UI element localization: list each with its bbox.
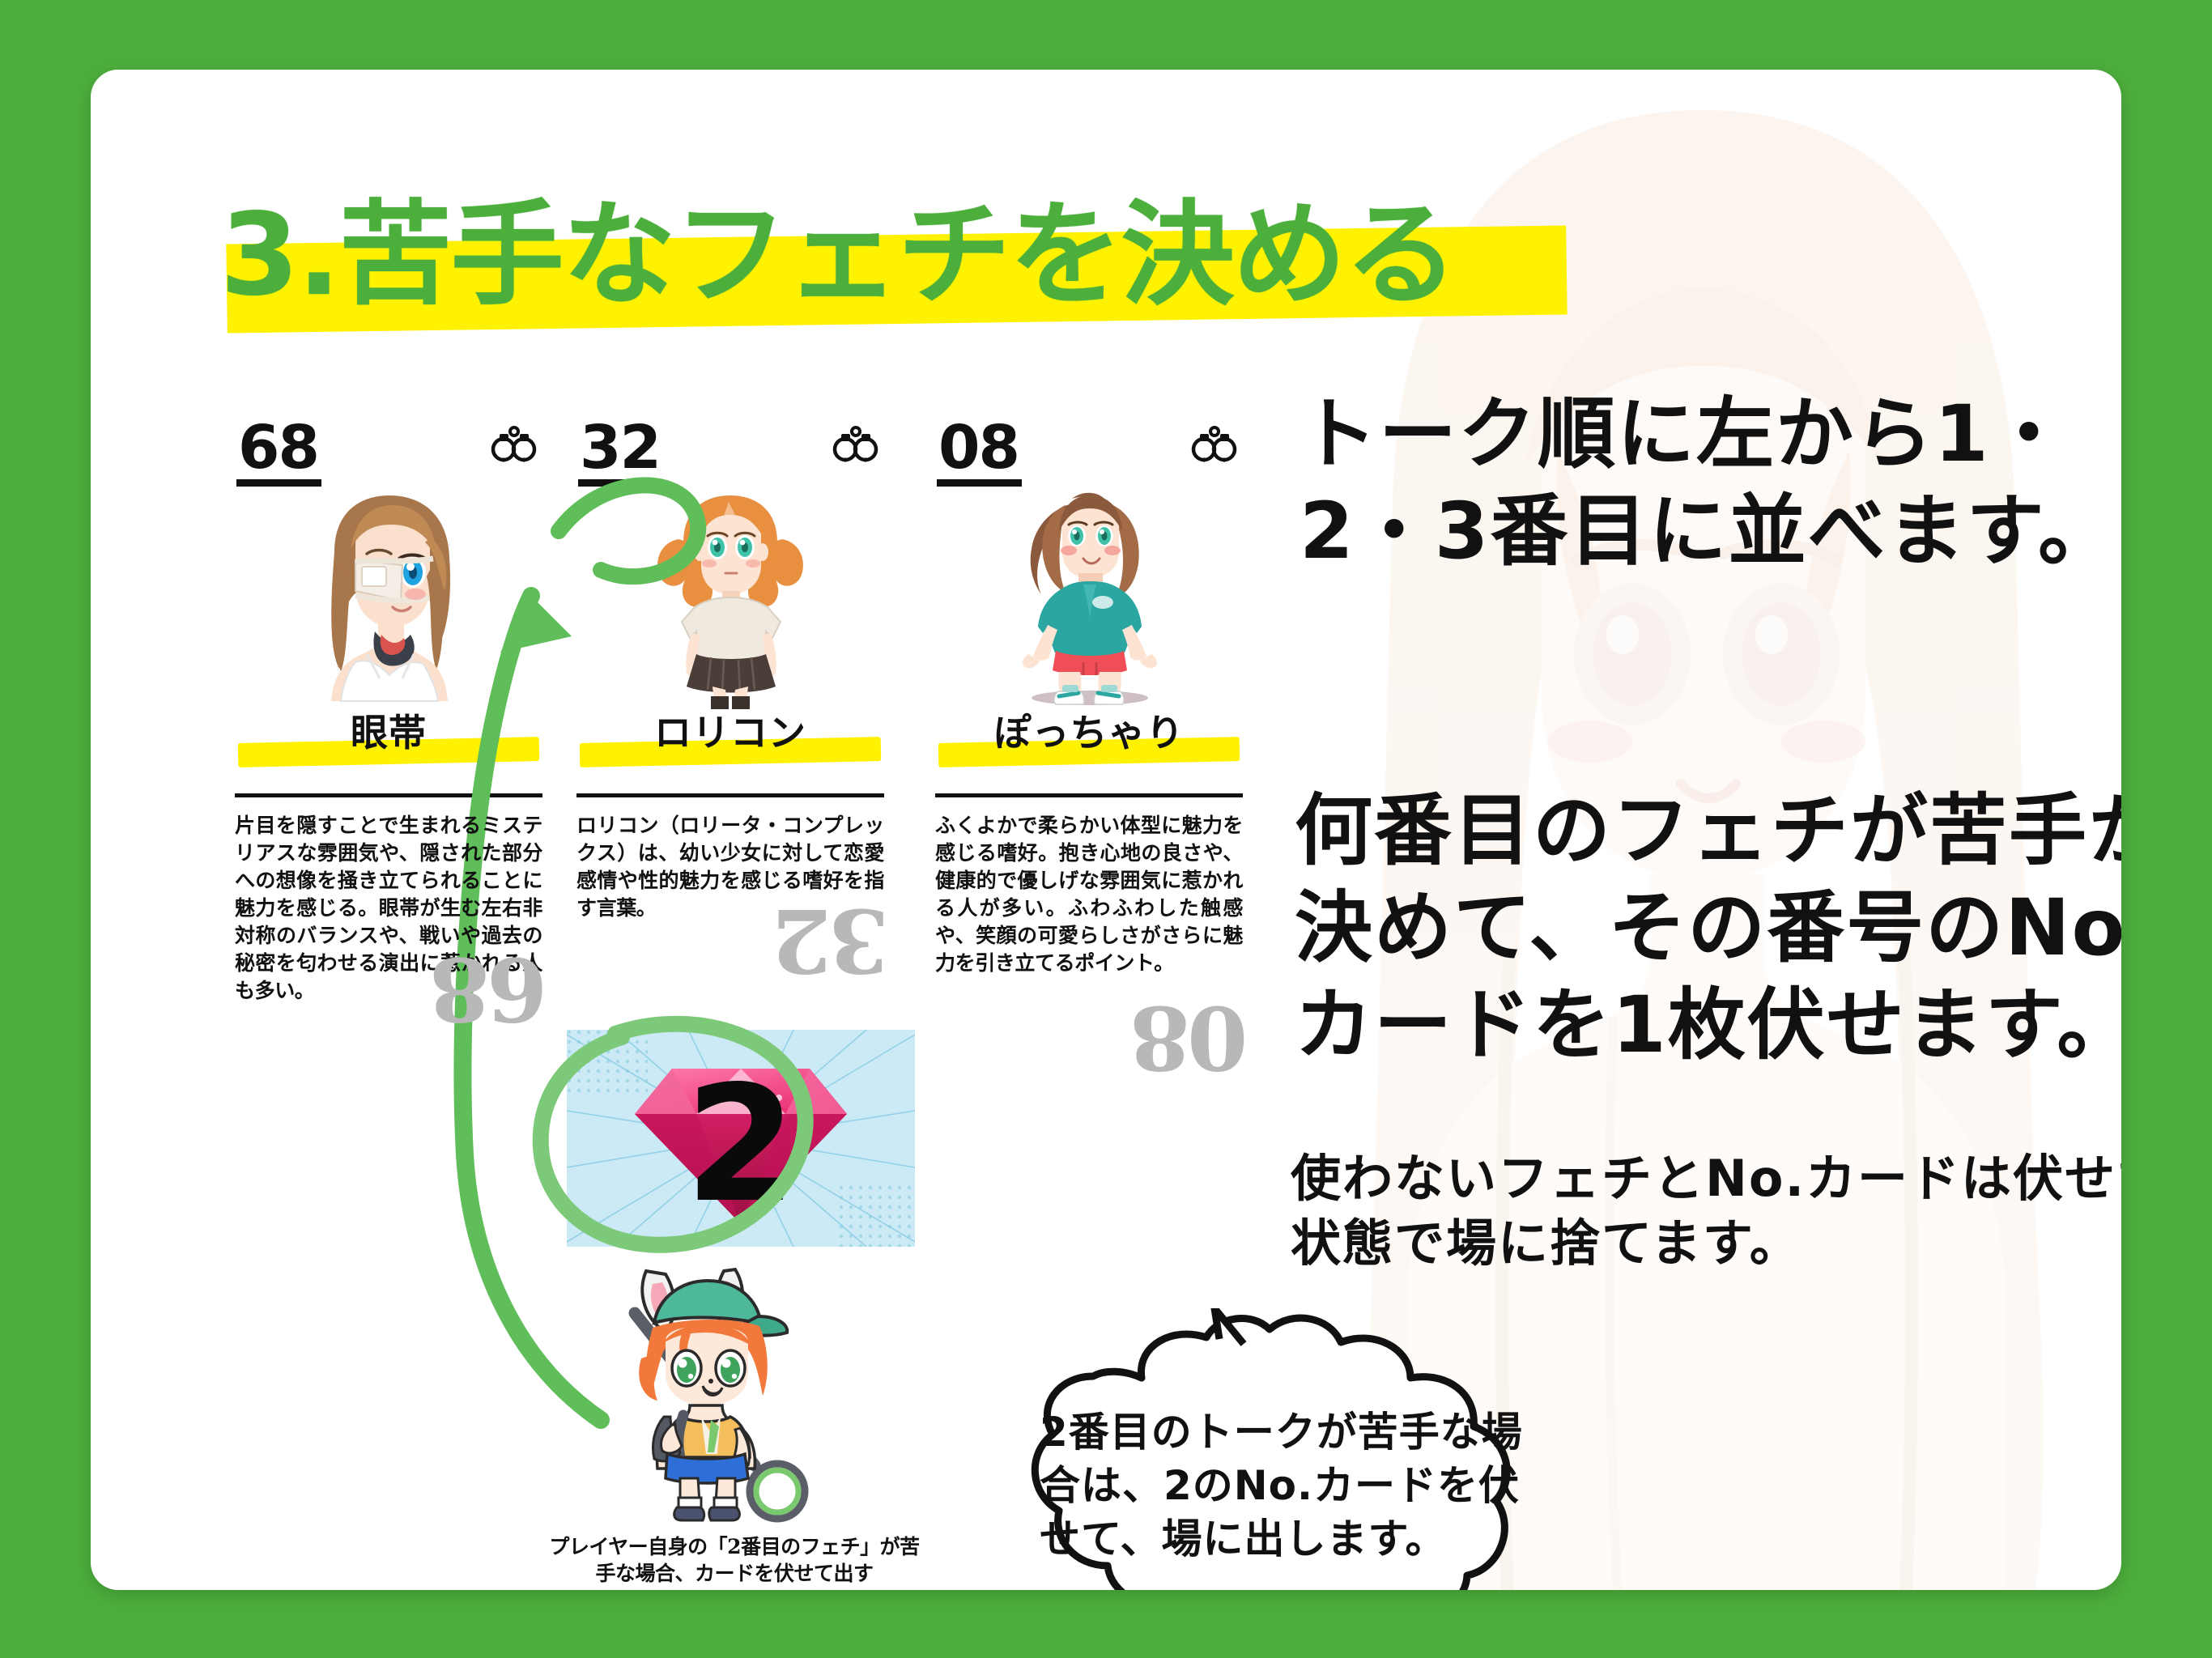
chibi-bunny-character	[568, 1266, 836, 1525]
fetish-card[interactable]: 68	[235, 418, 542, 1005]
fetish-card[interactable]: 32	[576, 418, 884, 922]
instruction-paragraph-3: 使わないフェチとNo.カードは伏せた状態で場に捨てます。	[1291, 1146, 2121, 1276]
card-illustration-chubby	[935, 489, 1243, 709]
card-ghost-number: 08	[1133, 997, 1248, 1078]
card-header: 08	[935, 418, 1243, 487]
instruction-paragraph-1: トーク順に左から1・2・3番目に並べます。	[1300, 385, 2121, 580]
card-label-wrap: ぽっちゃり	[935, 711, 1243, 779]
instruction-paragraph-2: 何番目のフェチが苦手か決めて、その番号のNo.カードを1枚伏せます。	[1295, 782, 2121, 1073]
card-number: 08	[937, 418, 1022, 487]
card-description: 08 ふくよかで柔らかい体型に魅力を感じる嗜好。抱き心地の良さや、健康的で優しげ…	[935, 812, 1243, 977]
handcuffs-icon	[1189, 424, 1240, 465]
handcuffs-icon	[489, 424, 539, 465]
card-label-wrap: ロリコン	[576, 711, 884, 779]
card-description: 32 ロリコン（ロリータ・コンプレックス）は、幼い少女に対して恋愛感情や性的魅力…	[576, 812, 884, 922]
card-ghost-number: 32	[774, 899, 889, 980]
card-label-wrap: 眼帯	[235, 711, 542, 779]
card-illustration-lolicon	[576, 489, 884, 709]
title-text: 3.苦手なフェチを決める	[220, 183, 1457, 329]
card-number: 32	[578, 418, 663, 487]
card-divider	[935, 793, 1243, 797]
slide-page: 3.苦手なフェチを決める 68	[91, 70, 2121, 1590]
card-divider	[576, 793, 884, 797]
card-label: ロリコン	[576, 711, 884, 755]
fetish-card[interactable]: 08	[935, 418, 1243, 977]
card-number: 68	[236, 418, 321, 487]
card-divider	[235, 793, 542, 797]
card-header: 32	[576, 418, 884, 487]
chibi-caption: プレイヤー自身の「2番目のフェチ」が苦手な場合、カードを伏せて出す	[540, 1533, 929, 1587]
number-card-gem[interactable]: 2	[567, 1030, 915, 1247]
page-title: 3.苦手なフェチを決める	[220, 183, 1613, 337]
card-header: 68	[235, 418, 542, 487]
card-label: ぽっちゃり	[935, 711, 1243, 755]
card-description-text: ふくよかで柔らかい体型に魅力を感じる嗜好。抱き心地の良さや、健康的で優しげな雰囲…	[935, 814, 1243, 975]
card-label: 眼帯	[235, 711, 542, 755]
card-description: 68 片目を隠すことで生まれるミステリアスな雰囲気や、隠された部分への想像を掻き…	[235, 812, 542, 1005]
card-ghost-number: 68	[432, 948, 547, 1029]
speech-bubble-text: 2番目のトークが苦手な場合は、2のNo.カードを伏せて、場に出します。	[1040, 1405, 1525, 1566]
card-illustration-eyepatch	[235, 489, 542, 709]
gem-card-number: 2	[685, 1051, 797, 1238]
handcuffs-icon	[831, 424, 881, 465]
slide-root: 3.苦手なフェチを決める 68	[0, 0, 2212, 1658]
